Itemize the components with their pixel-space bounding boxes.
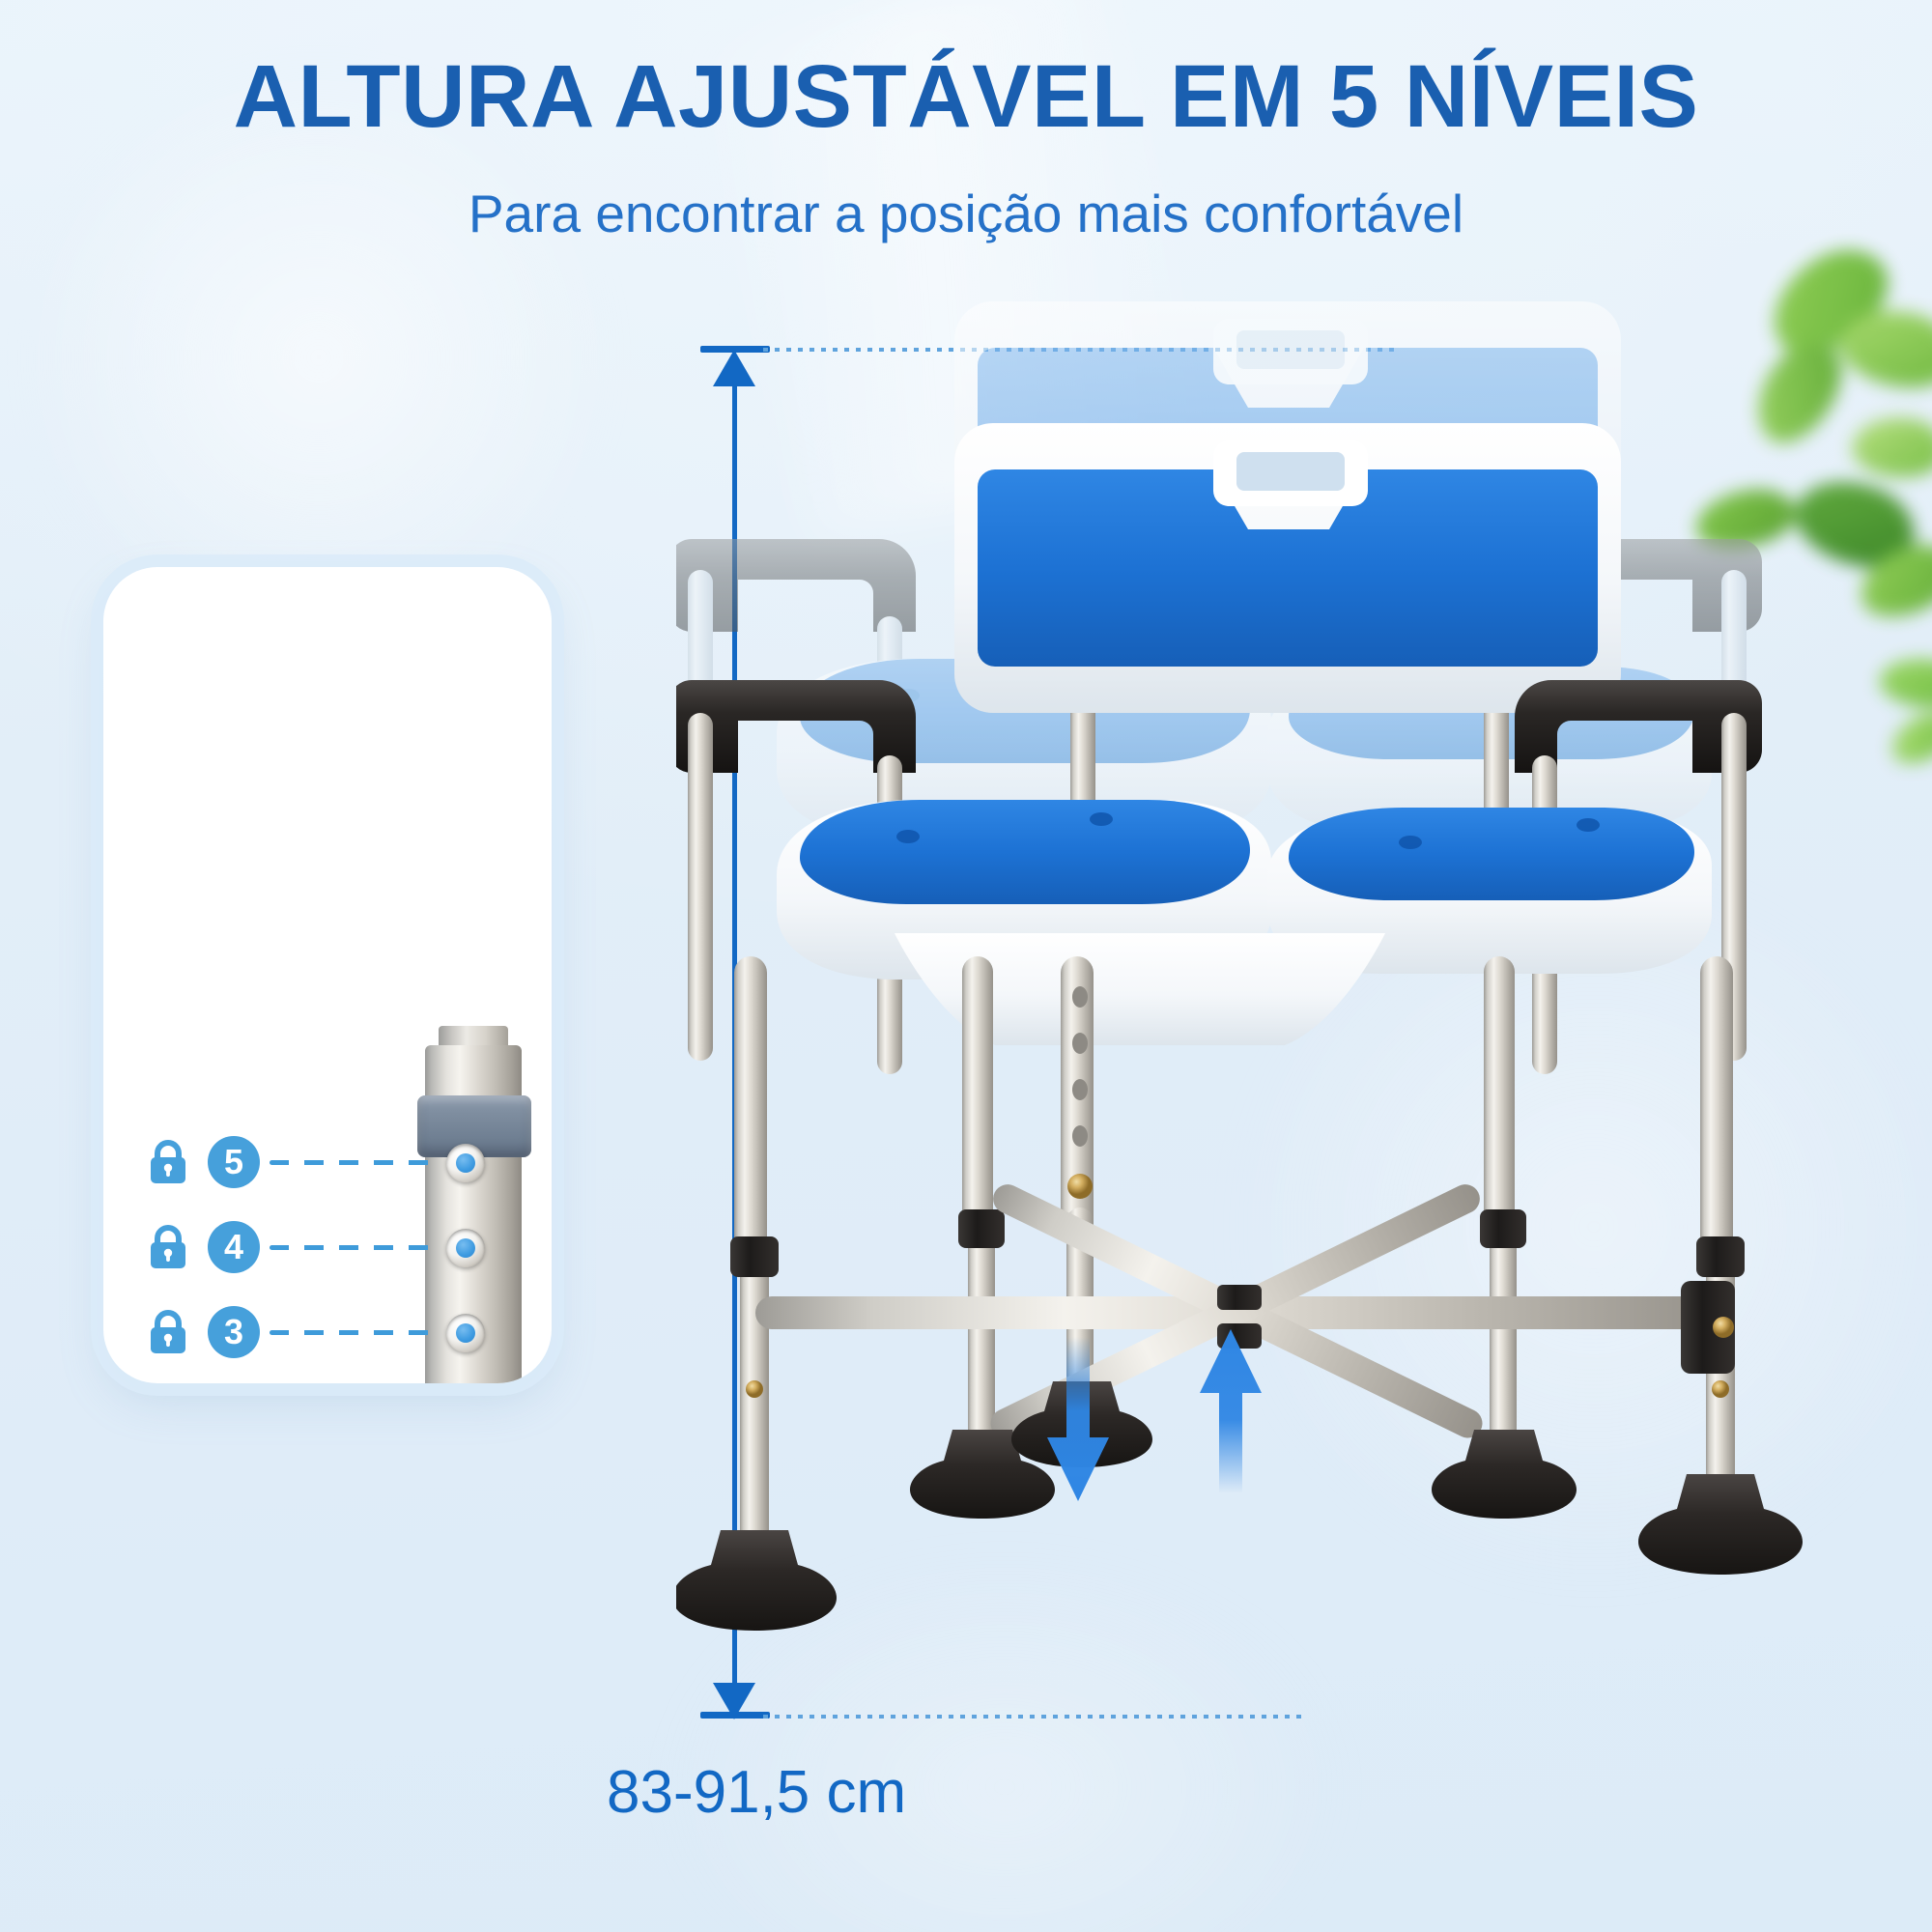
backrest-solid-low	[954, 423, 1621, 713]
page-title: ALTURA AJUSTÁVEL EM 5 NÍVEIS	[0, 50, 1932, 145]
seat-solid-low	[777, 800, 1712, 1045]
promo-banner: ALTURA AJUSTÁVEL EM 5 NÍVEIS Para encont…	[0, 0, 1932, 1932]
lock-icon	[146, 1224, 190, 1270]
level-number-badge: 3	[208, 1306, 260, 1358]
pin-hole-3[interactable]	[446, 1314, 485, 1352]
level-row-3[interactable]: 3	[146, 1302, 443, 1362]
pin-hole-5[interactable]	[446, 1144, 485, 1182]
shower-chair-illustration	[676, 280, 1932, 1903]
lock-icon	[146, 1309, 190, 1355]
level-row-5[interactable]: 5	[146, 1132, 443, 1192]
leader-line	[270, 1160, 443, 1165]
leader-line	[270, 1330, 443, 1335]
arrow-down-icon	[1045, 1337, 1111, 1501]
level-number-badge: 5	[208, 1136, 260, 1188]
height-adjustment-detail-card: 5 4 3	[103, 567, 552, 1383]
page-subtitle: Para encontrar a posição mais confortáve…	[0, 182, 1932, 245]
leader-line	[270, 1245, 443, 1250]
pin-hole-4[interactable]	[446, 1229, 485, 1267]
lock-icon	[146, 1139, 190, 1185]
level-number-badge: 4	[208, 1221, 260, 1273]
arrow-up-icon	[1198, 1329, 1264, 1493]
level-row-4[interactable]: 4	[146, 1217, 443, 1277]
